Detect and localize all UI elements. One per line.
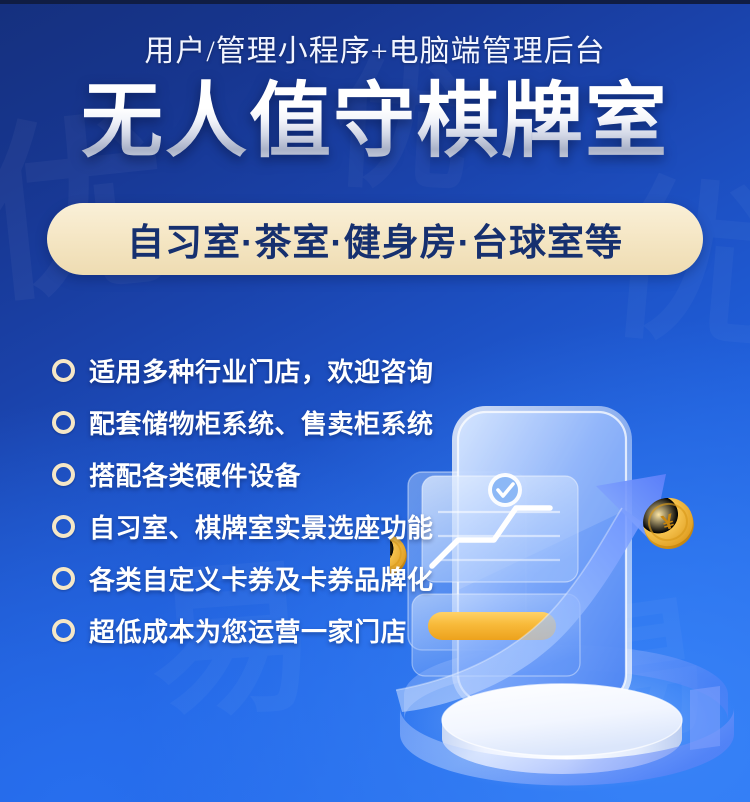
feature-label: 超低成本为您运营一家门店 <box>89 612 407 649</box>
feature-label: 适用多种行业门店，欢迎咨询 <box>89 352 434 389</box>
list-item: 适用多种行业门店，欢迎咨询 <box>52 344 434 396</box>
page-title: 无人值守棋牌室 <box>0 78 750 167</box>
feature-label: 各类自定义卡券及卡券品牌化 <box>89 560 434 597</box>
ring-icon <box>52 567 75 590</box>
promo-poster: 优 易 优 易 优 用户/管理小程序+电脑端管理后台 无人值守棋牌室 自习室·茶… <box>0 0 750 802</box>
ribbon-tail <box>690 686 720 750</box>
list-item: 配套储物柜系统、售卖柜系统 <box>52 396 434 448</box>
ring-icon <box>52 359 75 382</box>
feature-label: 配套储物柜系统、售卖柜系统 <box>89 404 434 441</box>
hero-illustration <box>390 390 750 802</box>
poster-subtitle: 用户/管理小程序+电脑端管理后台 <box>0 26 750 70</box>
ring-icon <box>52 463 75 486</box>
check-circle-icon <box>488 473 522 507</box>
feature-label: 搭配各类硬件设备 <box>89 456 301 493</box>
list-item: 超低成本为您运营一家门店 <box>52 604 434 656</box>
list-item: 搭配各类硬件设备 <box>52 448 434 500</box>
ring-icon <box>52 411 75 434</box>
ring-icon <box>52 515 75 538</box>
chart-card <box>422 473 578 582</box>
list-item: 自习室、棋牌室实景选座功能 <box>52 500 434 552</box>
feature-list: 适用多种行业门店，欢迎咨询 配套储物柜系统、售卖柜系统 搭配各类硬件设备 自习室… <box>52 344 434 656</box>
ring-icon <box>52 619 75 642</box>
category-pill-label: 自习室·茶室·健身房·台球室等 <box>127 212 623 266</box>
category-pill-banner: 自习室·茶室·健身房·台球室等 <box>47 203 703 275</box>
list-item: 各类自定义卡券及卡券品牌化 <box>52 552 434 604</box>
top-dark-strip <box>0 0 750 4</box>
feature-label: 自习室、棋牌室实景选座功能 <box>89 508 434 545</box>
